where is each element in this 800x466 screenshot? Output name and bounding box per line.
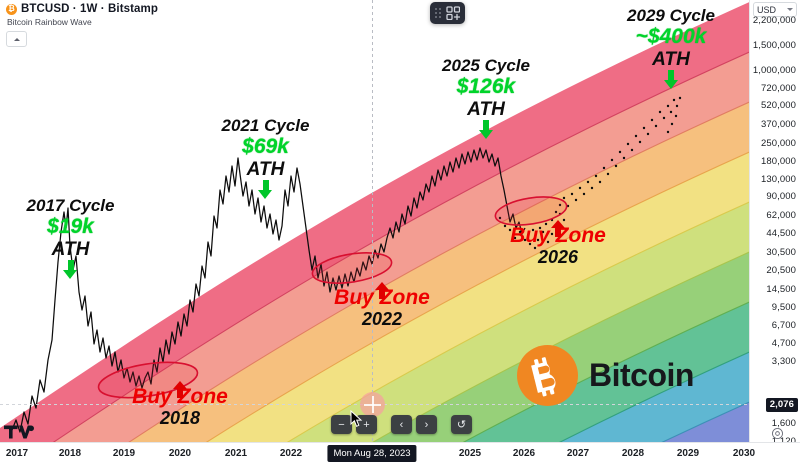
annotation-ath-label: ATH [607,49,735,70]
annotation-price-label: $69k [203,135,328,159]
price-tick: 90,000 [766,192,796,202]
symbol-title[interactable]: BTCUSD · 1W · Bitstamp [21,3,158,15]
price-tick: 1,500,000 [753,41,796,51]
price-tick: 370,000 [761,120,796,130]
time-axis[interactable]: 2017201820192020202120222023202520262027… [0,442,800,466]
annotation-cycle-label: 2017 Cycle [8,196,133,215]
price-tick: 520,000 [761,101,796,111]
price-tick: 20,500 [766,266,796,276]
annotation-cycle-label: 2021 Cycle [203,116,328,135]
time-tick: 2028 [622,448,644,459]
price-tick: 6,700 [772,321,796,331]
bitcoin-wordmark: Bitcoin [589,357,694,394]
time-tick: 2022 [280,448,302,459]
collapse-legend-button[interactable] [6,31,27,47]
bitcoin-watermark: Bitcoin [517,345,694,406]
price-tick: 250,000 [761,139,796,149]
bitcoin-logo-icon: ₿ [6,4,17,15]
scroll-left-button[interactable]: ‹ [391,415,412,434]
add-layout-icon[interactable] [446,6,460,20]
annotation-cycle-label: 2025 Cycle [422,56,550,75]
annotation-price-label: $19k [8,215,133,239]
tradingview-logo[interactable] [4,424,34,441]
symbol-row[interactable]: ₿ BTCUSD · 1W · Bitstamp [6,3,158,15]
price-tick: 44,500 [766,229,796,239]
buy-zone-year: 2018 [100,408,260,429]
price-tick: 4,700 [772,339,796,349]
chart-header: ₿ BTCUSD · 1W · Bitstamp Bitcoin Rainbow… [6,3,158,47]
annotation-cycle-2021: 2021 Cycle $69k ATH [203,116,328,180]
buy-zone-2026: Buy Zone 2026 [478,220,638,268]
annotation-cycle-label: 2029 Cycle [607,6,735,25]
time-tick: 2029 [677,448,699,459]
chart-app: ₿ BTCUSD · 1W · Bitstamp Bitcoin Rainbow… [0,0,800,466]
buy-zone-2018: Buy Zone 2018 [100,381,260,429]
annotation-cycle-2017: 2017 Cycle $19k ATH [8,196,133,260]
price-tick: 9,500 [772,303,796,313]
crosshair-date-label: Mon Aug 28, 2023 [327,445,416,462]
mouse-cursor-icon [350,410,363,428]
time-tick: 2017 [6,448,28,459]
time-tick: 2020 [169,448,191,459]
annotation-price-label: $126k [422,75,550,99]
price-tick: 14,500 [766,285,796,295]
price-tick: 2,200,000 [753,16,796,26]
annotation-cycle-2025: 2025 Cycle $126k ATH [422,56,550,120]
price-tick: 180,000 [761,157,796,167]
currency-label: USD [757,5,776,15]
zoom-out-button[interactable]: − [331,415,352,434]
gear-icon[interactable] [771,427,784,440]
crosshair-vertical-line [372,0,373,443]
time-tick: 2027 [567,448,589,459]
buy-zone-2022: Buy Zone 2022 [302,282,462,330]
price-tick: 62,000 [766,211,796,221]
time-tick: 2019 [113,448,135,459]
time-tick: 2021 [225,448,247,459]
time-tick: 2026 [513,448,535,459]
price-axis[interactable]: USD 2,200,0001,500,0001,000,000720,00052… [749,0,800,443]
annotation-cycle-2029: 2029 Cycle ~$400k ATH [607,6,735,70]
chevron-down-icon [787,8,793,11]
current-price-badge: 2,076 [766,398,798,412]
annotation-price-label: ~$400k [607,25,735,49]
annotation-ath-label: ATH [8,239,133,260]
chevron-up-icon [14,38,20,41]
annotation-ath-label: ATH [203,159,328,180]
bitcoin-logo-icon [517,345,578,406]
time-tick: 2030 [733,448,755,459]
drag-dots-icon[interactable] [435,8,441,18]
price-tick: 1,000,000 [753,66,796,76]
indicator-title[interactable]: Bitcoin Rainbow Wave [7,17,158,27]
buy-zone-year: 2026 [478,247,638,268]
price-tick: 3,300 [772,357,796,367]
price-tick: 30,500 [766,248,796,258]
annotation-ath-label: ATH [422,99,550,120]
price-tick: 130,000 [761,175,796,185]
reset-chart-button[interactable]: ↺ [451,415,472,434]
buy-zone-year: 2022 [302,309,462,330]
scroll-right-button[interactable]: › [416,415,437,434]
floating-toolbar[interactable] [430,2,465,24]
crosshair-marker [360,392,385,417]
time-tick: 2025 [459,448,481,459]
time-tick: 2018 [59,448,81,459]
price-tick: 720,000 [761,84,796,94]
